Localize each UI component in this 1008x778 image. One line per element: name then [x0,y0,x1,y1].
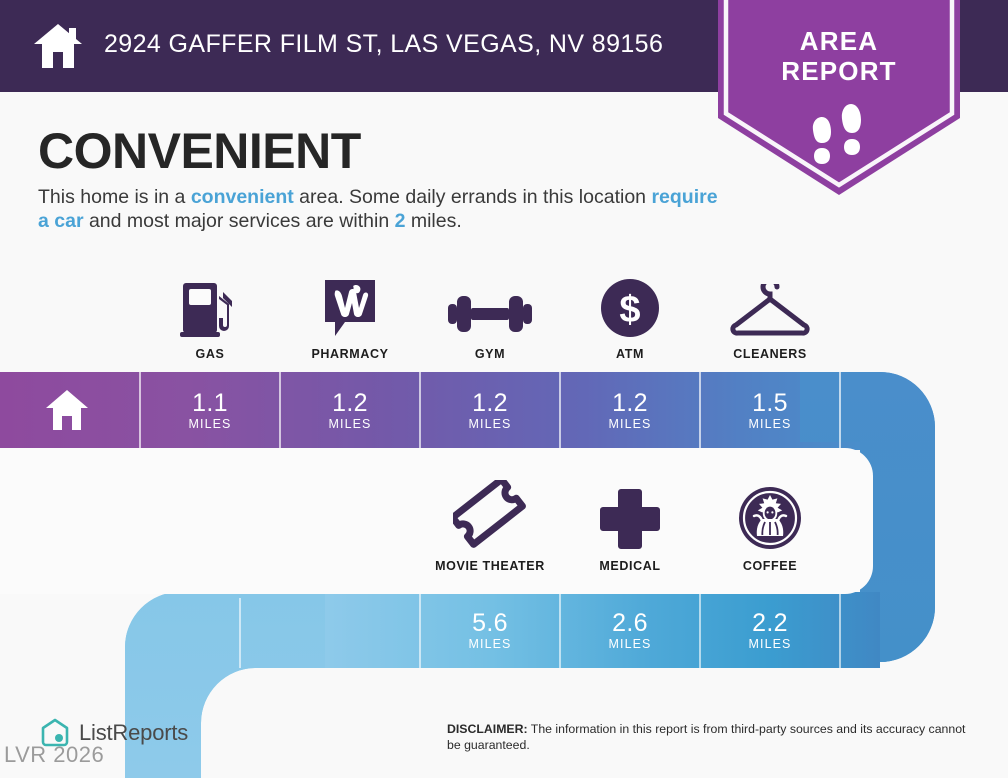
watermark-text: LVR 2026 [4,742,104,768]
distance-value: 1.2 [332,390,368,416]
subtitle-highlight-3: 2 [395,210,406,232]
subtitle-text-4: miles. [405,210,461,232]
distance-cell-coffee[interactable]: 2.2 MILES [700,592,840,670]
subtitle-text-1: This home is in a [38,186,191,208]
distance-unit: MILES [188,417,231,432]
amenity-gym[interactable]: GYM [420,272,560,361]
medical-cross-icon [560,484,700,550]
distance-cell-cleaners[interactable]: 1.5 MILES [700,372,840,450]
dumbbell-icon [420,272,560,338]
amenity-label: GAS [140,347,280,361]
distance-unit: MILES [328,417,371,432]
distance-value: 1.5 [752,390,788,416]
page-subtitle: This home is in a convenient area. Some … [38,185,718,233]
distance-unit: MILES [748,417,791,432]
amenity-label: COFFEE [700,559,840,573]
amenity-pharmacy[interactable]: PHARMACY [280,272,420,361]
coffee-siren-icon [700,484,840,550]
area-report-badge: AREA REPORT [718,0,960,195]
home-icon [33,23,83,69]
movie-ticket-icon [420,484,560,550]
subtitle-text-3: and most major services are within [84,210,395,232]
page-title: CONVENIENT [38,122,361,180]
distance-cell-gym[interactable]: 1.2 MILES [420,372,560,450]
disclaimer: DISCLAIMER: The information in this repo… [447,722,967,753]
amenity-cleaners[interactable]: CLEANERS [700,272,840,361]
distance-value: 1.2 [472,390,508,416]
distance-value: 1.2 [612,390,648,416]
amenity-label: MOVIE THEATER [420,559,560,573]
amenity-label: MEDICAL [560,559,700,573]
distance-unit: MILES [468,417,511,432]
distance-cell-gas[interactable]: 1.1 MILES [140,372,280,450]
amenity-label: ATM [560,347,700,361]
distance-value: 2.2 [752,610,788,636]
property-address: 2924 GAFFER FILM ST, LAS VEGAS, NV 89156 [104,30,663,59]
amenity-label: PHARMACY [280,347,420,361]
svg-text:$: $ [619,289,640,331]
amenity-medical[interactable]: MEDICAL [560,484,700,573]
pharmacy-w-icon [280,272,420,338]
distance-cell-medical[interactable]: 2.6 MILES [560,592,700,670]
distance-cell-pharmacy[interactable]: 1.2 MILES [280,372,420,450]
hanger-icon [700,272,840,338]
distance-value: 5.6 [472,610,508,636]
distance-unit: MILES [608,637,651,652]
gas-pump-icon [140,272,280,338]
distance-unit: MILES [608,417,651,432]
distance-unit: MILES [468,637,511,652]
distance-value: 2.6 [612,610,648,636]
amenity-movie-theater[interactable]: MOVIE THEATER [420,484,560,573]
amenity-label: GYM [420,347,560,361]
distance-cell-movie-theater[interactable]: 5.6 MILES [420,592,560,670]
home-icon [45,389,89,431]
dollar-circle-icon: $ [560,272,700,338]
distance-cell-atm[interactable]: 1.2 MILES [560,372,700,450]
amenity-atm[interactable]: $ ATM [560,272,700,361]
area-report-page: 2924 GAFFER FILM ST, LAS VEGAS, NV 89156… [0,0,1008,778]
distance-unit: MILES [748,637,791,652]
subtitle-text-2: area. Some daily errands in this locatio… [294,186,652,208]
amenity-label: CLEANERS [700,347,840,361]
disclaimer-label: DISCLAIMER: [447,722,528,736]
distance-value: 1.1 [192,390,228,416]
amenity-gas[interactable]: GAS [140,272,280,361]
amenity-coffee[interactable]: COFFEE [700,484,840,573]
subtitle-highlight-1: convenient [191,186,294,208]
